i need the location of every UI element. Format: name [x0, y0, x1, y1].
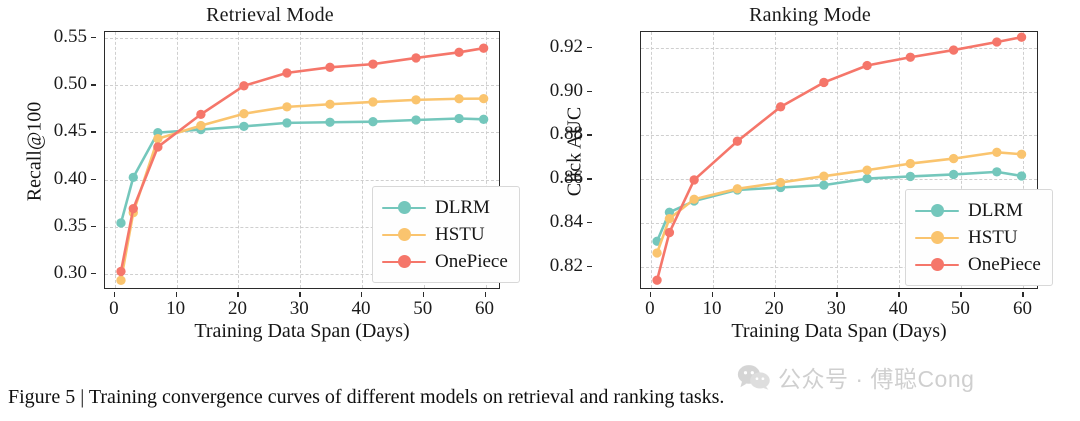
x-tick-label: 0 — [109, 298, 119, 320]
x-tick-label: 60 — [1013, 298, 1032, 320]
data-point — [819, 180, 828, 189]
x-tick-label: 40 — [351, 298, 370, 320]
y-tick-mark — [91, 131, 96, 132]
data-point — [411, 115, 420, 124]
data-point — [239, 109, 248, 118]
data-point — [116, 218, 125, 227]
x-tick-mark — [836, 292, 837, 297]
y-tick-label: 0.35 — [54, 215, 87, 237]
legend-marker-hstu — [382, 227, 426, 243]
x-tick-mark — [299, 292, 300, 297]
data-point — [689, 175, 698, 184]
data-point — [949, 154, 958, 163]
x-tick-label: 50 — [413, 298, 432, 320]
data-point — [906, 159, 915, 168]
y-tick-label: 0.40 — [54, 168, 87, 190]
x-tick-label: 30 — [290, 298, 309, 320]
legend-item-dlrm[interactable]: DLRM — [915, 197, 1041, 224]
data-point — [652, 276, 661, 285]
data-point — [819, 172, 828, 181]
data-point — [368, 117, 377, 126]
data-point — [479, 44, 488, 53]
chart-title-ranking: Ranking Mode — [540, 4, 1080, 27]
legend-item-onepiece[interactable]: OnePiece — [382, 248, 508, 275]
legend-item-onepiece[interactable]: OnePiece — [915, 251, 1041, 278]
x-tick-label: 20 — [765, 298, 784, 320]
data-point — [196, 110, 205, 119]
y-tick-label: 0.55 — [54, 26, 87, 48]
legend-label-hstu: HSTU — [968, 228, 1018, 247]
x-tick-mark — [1022, 292, 1023, 297]
legend-label-onepiece: OnePiece — [968, 255, 1041, 274]
data-point — [282, 68, 291, 77]
x-axis-ticks-ranking: 0102030405060 — [640, 292, 1038, 320]
legend-marker-dlrm — [915, 203, 959, 219]
x-tick-label: 20 — [228, 298, 247, 320]
y-tick-mark — [587, 178, 592, 179]
x-tick-mark — [361, 292, 362, 297]
legend-label-dlrm: DLRM — [968, 201, 1023, 220]
data-point — [776, 178, 785, 187]
data-point — [1017, 33, 1026, 42]
data-point — [906, 172, 915, 181]
data-point — [239, 122, 248, 131]
chart-title-retrieval: Retrieval Mode — [0, 4, 540, 27]
data-point — [949, 170, 958, 179]
y-tick-mark — [91, 226, 96, 227]
legend-marker-onepiece — [915, 257, 959, 273]
y-tick-mark — [91, 37, 96, 38]
data-point — [862, 174, 871, 183]
x-tick-mark — [898, 292, 899, 297]
data-point — [862, 61, 871, 70]
data-point — [665, 228, 674, 237]
x-tick-label: 30 — [827, 298, 846, 320]
y-tick-mark — [587, 47, 592, 48]
data-point — [153, 142, 162, 151]
y-tick-label: 0.30 — [54, 262, 87, 284]
y-tick-mark — [91, 179, 96, 180]
x-tick-label: 40 — [889, 298, 908, 320]
wechat-icon — [737, 364, 771, 390]
y-tick-mark — [587, 91, 592, 92]
figure-container: Retrieval Mode 0.300.350.400.450.500.55 … — [0, 0, 1080, 421]
data-point — [776, 102, 785, 111]
data-point — [652, 248, 661, 257]
data-point — [325, 100, 334, 109]
x-axis-label-retrieval: Training Data Span (Days) — [104, 320, 500, 343]
data-point — [454, 48, 463, 57]
data-point — [116, 276, 125, 285]
data-point — [325, 63, 334, 72]
wechat-watermark: 公众号 · 傅聪Cong — [737, 360, 974, 394]
data-point — [368, 59, 377, 68]
x-axis-label-ranking: Training Data Span (Days) — [640, 320, 1038, 343]
legend-label-hstu: HSTU — [435, 225, 485, 244]
x-tick-mark — [114, 292, 115, 297]
data-point — [733, 184, 742, 193]
x-tick-label: 60 — [475, 298, 494, 320]
data-point — [196, 121, 205, 130]
data-point — [1017, 171, 1026, 180]
data-point — [992, 148, 1001, 157]
x-tick-mark — [423, 292, 424, 297]
data-point — [1017, 150, 1026, 159]
x-tick-mark — [176, 292, 177, 297]
figure-caption: Figure 5 | Training convergence curves o… — [8, 386, 724, 409]
data-point — [116, 267, 125, 276]
legend-ranking: DLRM HSTU OnePiece — [905, 189, 1053, 286]
legend-label-onepiece: OnePiece — [435, 252, 508, 271]
data-point — [368, 97, 377, 106]
x-tick-label: 10 — [166, 298, 185, 320]
y-tick-label: 0.82 — [550, 255, 583, 277]
data-point — [665, 214, 674, 223]
x-tick-mark — [650, 292, 651, 297]
chart-panel-retrieval: Retrieval Mode 0.300.350.400.450.500.55 … — [0, 0, 540, 360]
legend-marker-dlrm — [382, 200, 426, 216]
data-point — [325, 118, 334, 127]
x-tick-mark — [712, 292, 713, 297]
x-tick-mark — [485, 292, 486, 297]
x-axis-ticks-retrieval: 0102030405060 — [104, 292, 500, 320]
legend-item-dlrm[interactable]: DLRM — [382, 194, 508, 221]
data-point — [689, 195, 698, 204]
y-tick-label: 0.50 — [54, 73, 87, 95]
x-tick-label: 0 — [645, 298, 655, 320]
y-tick-mark — [587, 222, 592, 223]
data-point — [129, 173, 138, 182]
legend-item-hstu[interactable]: HSTU — [382, 221, 508, 248]
legend-marker-onepiece — [382, 254, 426, 270]
data-point — [992, 37, 1001, 46]
y-tick-mark — [587, 266, 592, 267]
x-tick-mark — [237, 292, 238, 297]
data-point — [282, 118, 291, 127]
data-point — [479, 94, 488, 103]
data-point — [129, 204, 138, 213]
data-point — [733, 137, 742, 146]
legend-item-hstu[interactable]: HSTU — [915, 224, 1041, 251]
y-tick-mark — [91, 84, 96, 85]
y-tick-label: 0.92 — [550, 36, 583, 58]
x-tick-mark — [960, 292, 961, 297]
data-point — [411, 53, 420, 62]
data-point — [819, 78, 828, 87]
data-point — [992, 167, 1001, 176]
x-tick-mark — [774, 292, 775, 297]
x-tick-label: 10 — [703, 298, 722, 320]
data-point — [862, 165, 871, 174]
watermark-text: 公众号 · 傅聪Cong — [778, 360, 974, 394]
y-tick-mark — [91, 273, 96, 274]
data-point — [153, 134, 162, 143]
y-axis-label-ranking: Click AUC — [564, 72, 587, 232]
data-point — [239, 81, 248, 90]
x-tick-label: 50 — [951, 298, 970, 320]
legend-marker-hstu — [915, 230, 959, 246]
data-point — [454, 114, 463, 123]
data-point — [411, 95, 420, 104]
y-tick-mark — [587, 134, 592, 135]
y-tick-label: 0.45 — [54, 120, 87, 142]
data-point — [282, 102, 291, 111]
data-point — [479, 115, 488, 124]
data-point — [454, 94, 463, 103]
y-axis-ticks-retrieval: 0.300.350.400.450.500.55 — [8, 31, 96, 289]
data-point — [949, 45, 958, 54]
y-axis-label-retrieval: Recall@100 — [24, 72, 47, 232]
legend-retrieval: DLRM HSTU OnePiece — [372, 186, 520, 283]
legend-label-dlrm: DLRM — [435, 198, 490, 217]
data-point — [906, 53, 915, 62]
